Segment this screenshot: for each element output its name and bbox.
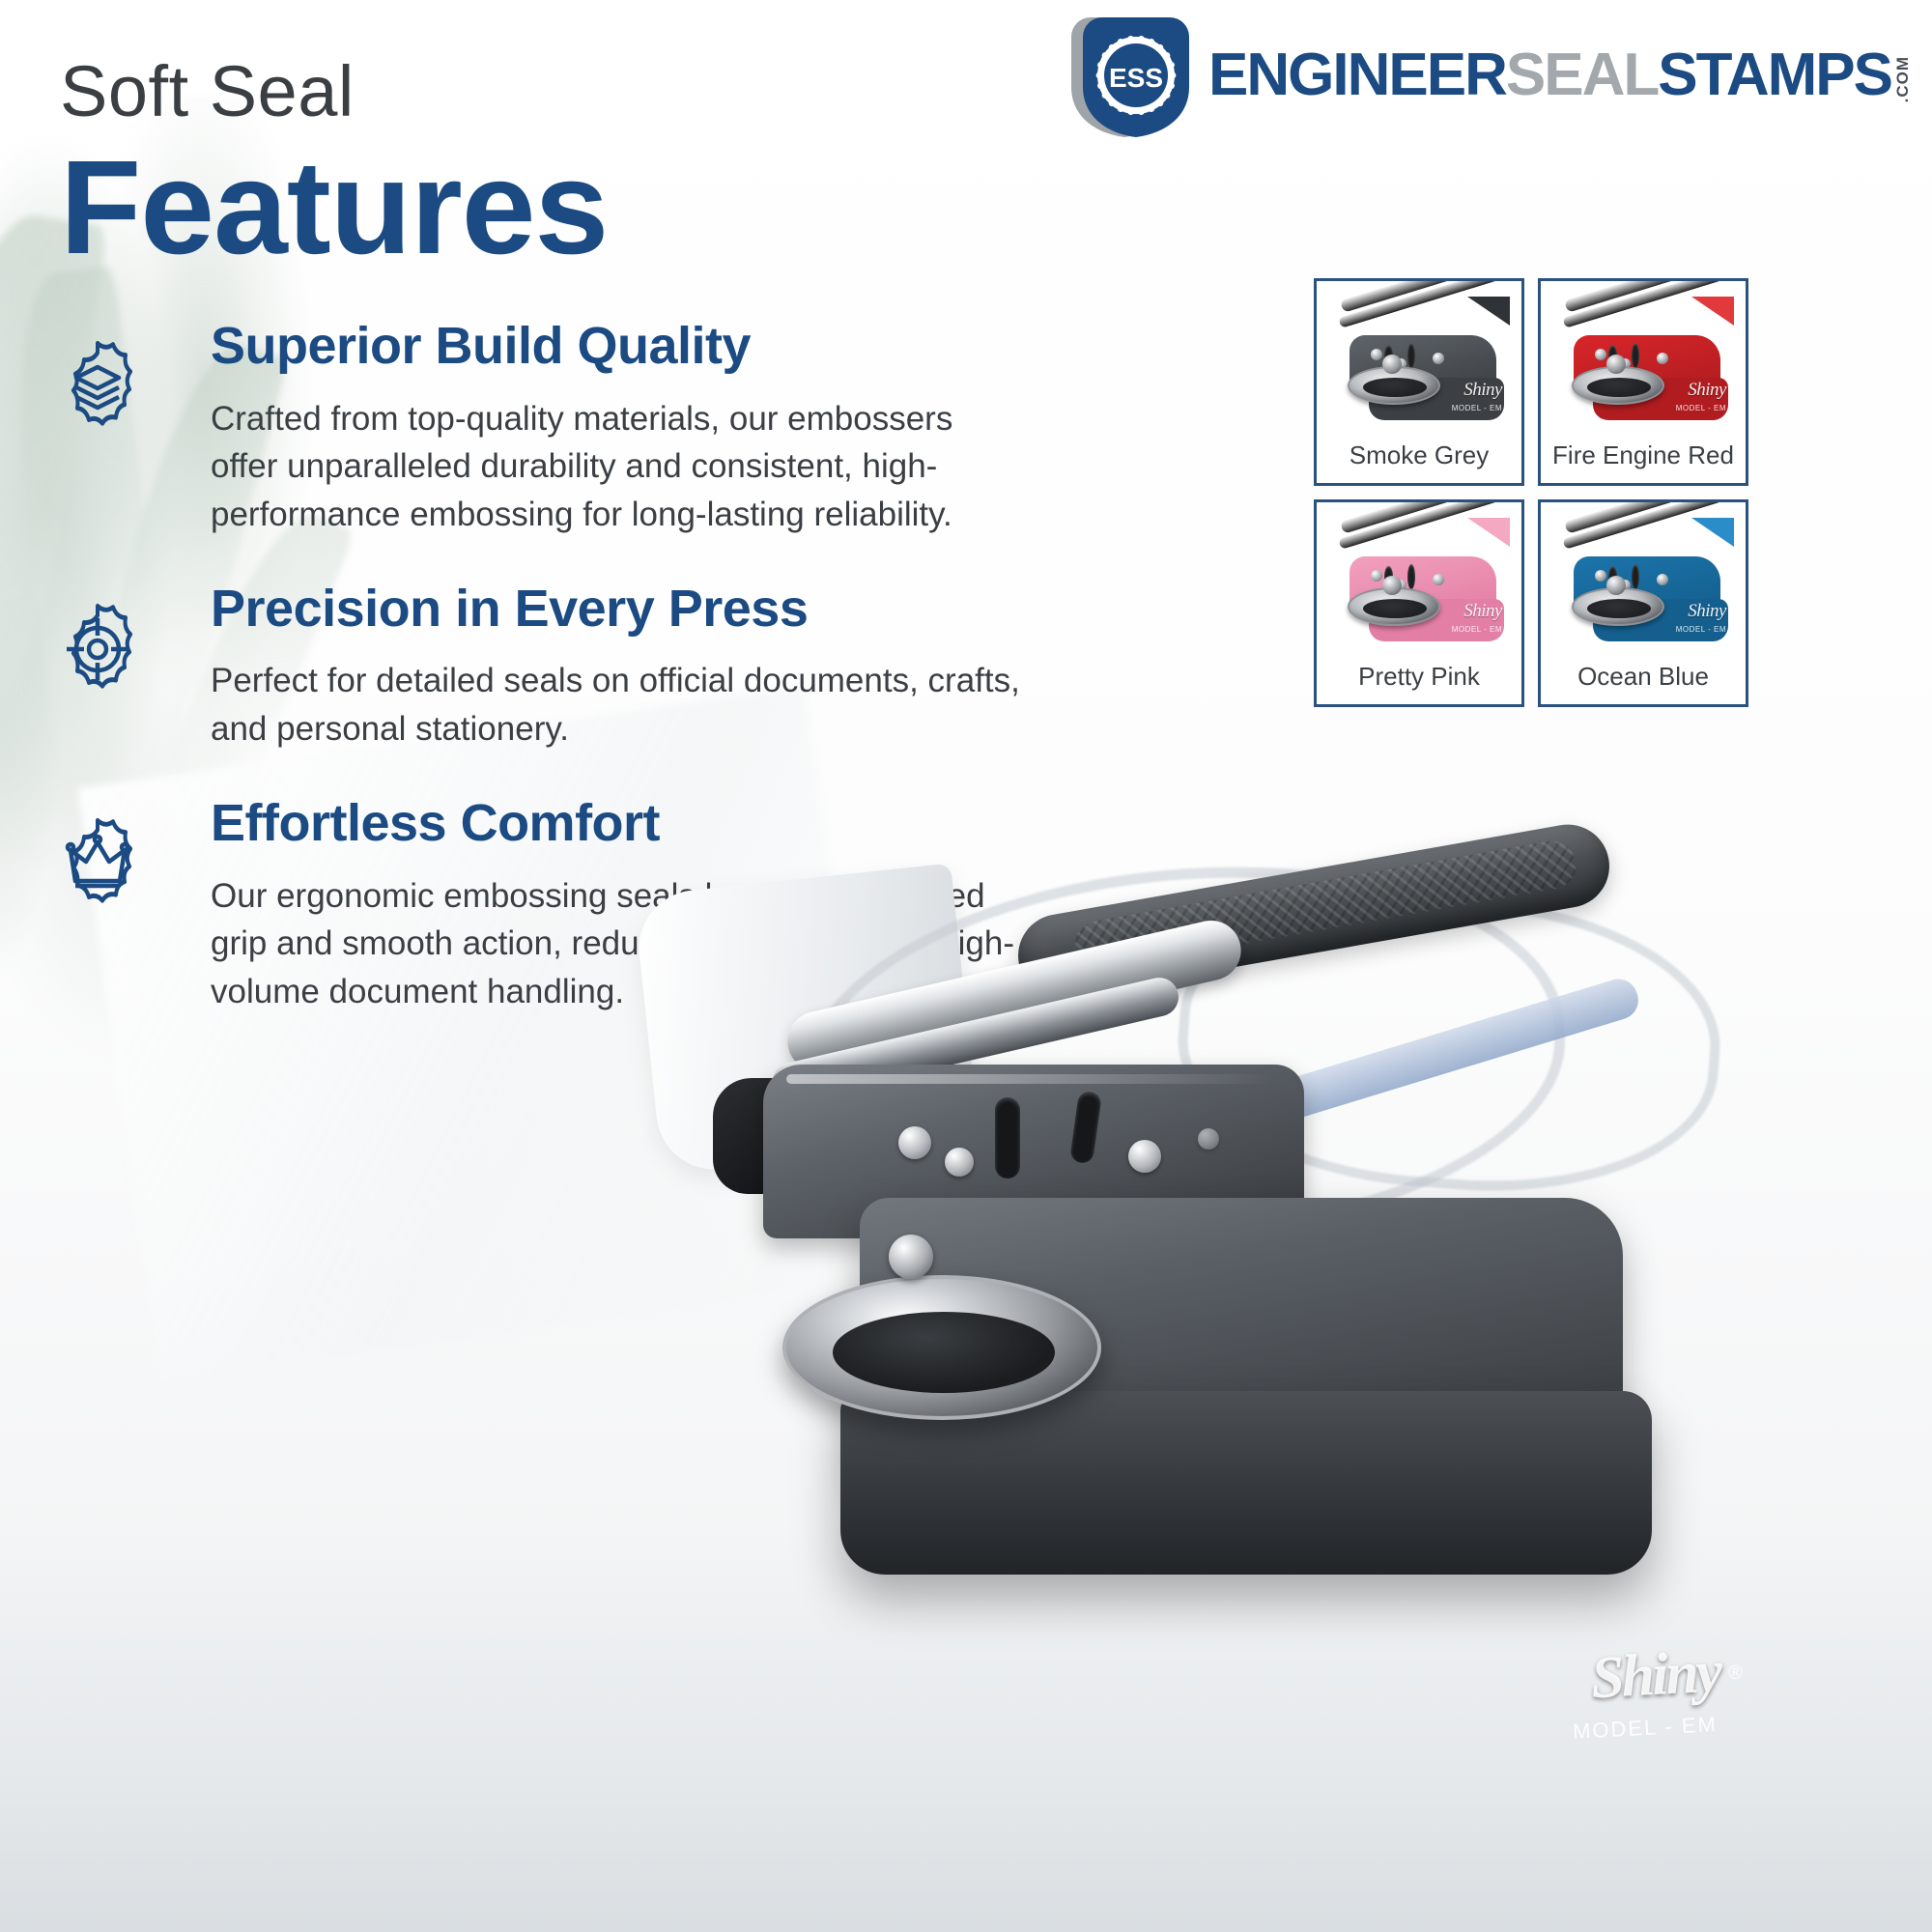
swatch-product-image: ShinyMODEL - EM xyxy=(1541,502,1746,648)
hero-embosser: Shiny ® MODEL - EM xyxy=(696,850,1835,1874)
hero-registered-mark: ® xyxy=(1728,1662,1743,1685)
swatch-product-image: ShinyMODEL - EM xyxy=(1541,281,1746,427)
feature-body: Perfect for detailed seals on official d… xyxy=(211,657,1024,753)
swatch-label: Ocean Blue xyxy=(1541,648,1746,704)
feature-heading: Superior Build Quality xyxy=(211,319,1024,374)
page-title: Features xyxy=(60,131,608,285)
hero-brand-text: Shiny xyxy=(1589,1638,1721,1714)
header: Soft Seal Features ESS xyxy=(0,0,1932,290)
feature-body: Crafted from top-quality materials, our … xyxy=(211,395,1024,539)
swatch-ocean-blue[interactable]: ShinyMODEL - EM Ocean Blue xyxy=(1538,499,1748,707)
swatch-label: Smoke Grey xyxy=(1317,427,1521,483)
hero-product: Shiny ® MODEL - EM xyxy=(638,831,1932,1932)
swatch-fire-engine-red[interactable]: ShinyMODEL - EM Fire Engine Red xyxy=(1538,278,1748,486)
layers-badge-icon xyxy=(41,328,155,442)
swatch-smoke-grey[interactable]: ShinyMODEL - EM Smoke Grey xyxy=(1314,278,1524,486)
logo-word-stamps: STAMPS xyxy=(1658,45,1891,105)
color-swatch-grid: ShinyMODEL - EM Smoke Grey ShinyMODEL - … xyxy=(1314,278,1874,707)
page-eyebrow: Soft Seal xyxy=(60,50,355,132)
brand-logo[interactable]: ESS ENGINEER SEAL STAMPS .COM xyxy=(1058,17,1911,133)
hero-model-text: MODEL - EM xyxy=(1572,1712,1718,1745)
logo-tld: .COM xyxy=(1894,56,1911,102)
crown-badge-icon xyxy=(41,806,155,920)
feature-heading: Precision in Every Press xyxy=(211,582,1024,637)
feature-item-precision: Precision in Every Press Perfect for det… xyxy=(0,582,1024,753)
swatch-product-image: ShinyMODEL - EM xyxy=(1317,281,1521,427)
logo-word-engineer: ENGINEER xyxy=(1208,45,1506,105)
swatch-product-image: ShinyMODEL - EM xyxy=(1317,502,1521,648)
hero-die-wheel xyxy=(782,1275,1101,1420)
ess-shield-icon: ESS xyxy=(1058,14,1205,137)
hero-pivot-screw xyxy=(889,1235,933,1279)
target-badge-icon xyxy=(41,591,155,705)
logo-word-seal: SEAL xyxy=(1506,45,1658,105)
swatch-label: Pretty Pink xyxy=(1317,648,1521,704)
swatch-label: Fire Engine Red xyxy=(1541,427,1746,483)
feature-item-build-quality: Superior Build Quality Crafted from top-… xyxy=(0,319,1024,539)
swatch-pretty-pink[interactable]: ShinyMODEL - EM Pretty Pink xyxy=(1314,499,1524,707)
svg-text:ESS: ESS xyxy=(1109,63,1163,93)
